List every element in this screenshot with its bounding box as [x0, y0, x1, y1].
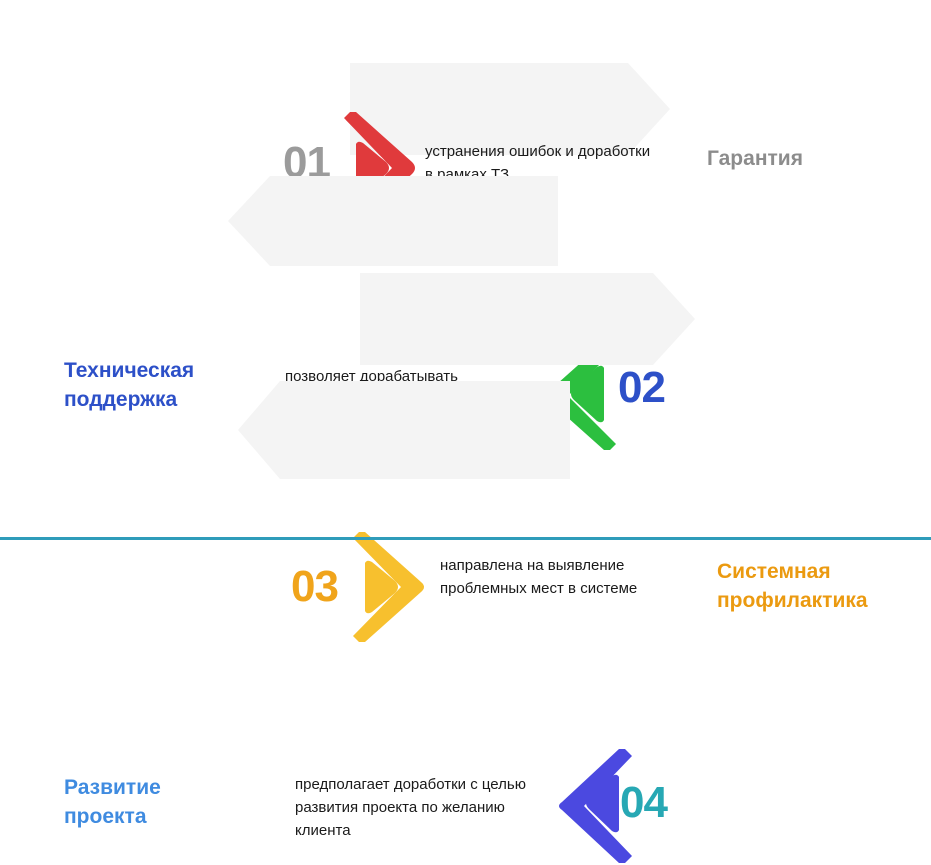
step-description-3: направлена на выявление проблемных мест … — [440, 554, 670, 600]
step-banner-3 — [360, 273, 695, 365]
step-banner-4 — [238, 381, 570, 479]
step-banner-2 — [228, 176, 558, 266]
step-caption-1: Гарантия — [707, 144, 803, 173]
step-row-3: 03 направлена на выявление проблемных ме… — [0, 265, 931, 377]
infographic-slide: 01 устранения ошибок и доработки в рамка… — [0, 0, 931, 543]
step-description-4: предполагает доработки с целью развития … — [295, 773, 530, 842]
step-number-3: 03 — [291, 565, 338, 609]
bottom-accent-rule — [0, 537, 931, 540]
step-number-4: 04 — [620, 781, 667, 825]
step-row-2: 02 позволяет дорабатывать программу Техн… — [0, 170, 931, 280]
step-caption-3: Системная профилактика — [717, 557, 927, 615]
step-row-4: 04 предполагает доработки с целью развит… — [0, 375, 931, 493]
chevron-right-icon-3 — [345, 530, 449, 644]
step-row-1: 01 устранения ошибок и доработки в рамка… — [0, 55, 931, 170]
step-caption-4: Развитие проекта — [64, 773, 244, 831]
